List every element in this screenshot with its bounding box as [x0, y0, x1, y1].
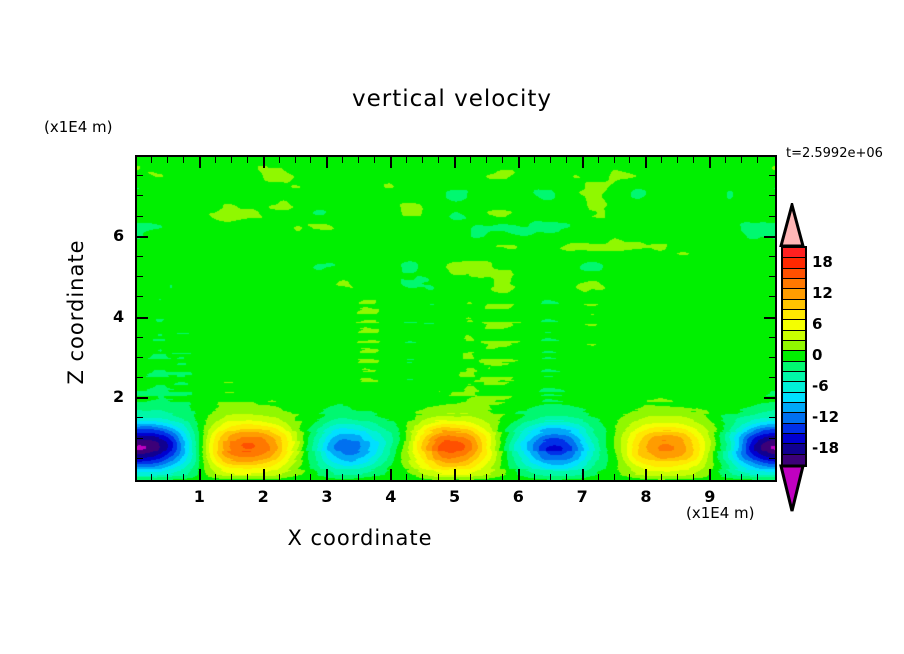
tick-mark	[263, 469, 265, 480]
tick-mark	[502, 157, 503, 163]
tick-mark	[629, 474, 630, 480]
tick-mark	[279, 157, 280, 163]
tick-mark	[769, 438, 775, 439]
tick-mark	[137, 417, 143, 418]
tick-mark	[137, 397, 148, 399]
tick-mark	[486, 157, 487, 163]
contour-plot-area	[135, 155, 777, 482]
tick-mark	[645, 157, 647, 168]
tick-mark	[757, 157, 758, 163]
tick-mark	[764, 236, 775, 238]
tick-mark	[769, 175, 775, 176]
tick-mark	[502, 474, 503, 480]
tick-mark	[247, 474, 248, 480]
tick-mark	[769, 458, 775, 459]
tick-mark	[769, 417, 775, 418]
colorbar-band	[783, 320, 805, 330]
tick-mark	[326, 469, 328, 480]
tick-mark	[167, 157, 168, 163]
tick-mark	[438, 474, 439, 480]
colorbar-band	[783, 289, 805, 299]
colorbar-tick-label: 12	[812, 284, 833, 302]
colorbar-tick-label: 18	[812, 253, 833, 271]
tick-mark	[741, 474, 742, 480]
tick-mark	[183, 474, 184, 480]
tick-mark	[764, 317, 775, 319]
tick-mark	[326, 157, 328, 168]
tick-mark	[358, 474, 359, 480]
tick-mark	[342, 474, 343, 480]
tick-mark	[422, 474, 423, 480]
colorbar-band	[783, 269, 805, 279]
tick-mark	[295, 474, 296, 480]
y-tick-label: 6	[113, 226, 124, 245]
tick-mark	[374, 474, 375, 480]
tick-mark	[390, 157, 392, 168]
tick-mark	[534, 157, 535, 163]
y-axis-unit-label: (x1E4 m)	[44, 118, 113, 136]
tick-mark	[769, 276, 775, 277]
tick-mark	[454, 157, 456, 168]
tick-mark	[769, 357, 775, 358]
colorbar-band	[783, 258, 805, 268]
tick-mark	[725, 474, 726, 480]
tick-mark	[137, 256, 143, 257]
tick-mark	[137, 296, 143, 297]
tick-mark	[598, 157, 599, 163]
colorbar-band	[783, 372, 805, 382]
tick-mark	[486, 474, 487, 480]
tick-mark	[137, 236, 148, 238]
tick-mark	[199, 469, 201, 480]
figure-canvas: vertical velocity t=2.5992e+06 (x1E4 m) …	[0, 0, 904, 654]
tick-mark	[167, 474, 168, 480]
tick-mark	[310, 157, 311, 163]
colorbar-tick-label: -18	[812, 439, 839, 457]
tick-mark	[709, 157, 711, 168]
colorbar-band	[783, 300, 805, 310]
tick-mark	[406, 157, 407, 163]
tick-mark	[215, 474, 216, 480]
tick-mark	[534, 474, 535, 480]
tick-mark	[757, 474, 758, 480]
colorbar-band	[783, 393, 805, 403]
x-tick-label: 8	[640, 487, 651, 506]
colorbar-under-arrow-icon	[779, 463, 805, 513]
colorbar-tick-label: -12	[812, 408, 839, 426]
tick-mark	[693, 157, 694, 163]
tick-mark	[769, 296, 775, 297]
colorbar-band	[783, 310, 805, 320]
tick-mark	[677, 157, 678, 163]
tick-mark	[614, 474, 615, 480]
tick-mark	[183, 157, 184, 163]
page-title: vertical velocity	[0, 86, 904, 112]
tick-mark	[137, 317, 148, 319]
colorbar-tick-label: 0	[812, 346, 822, 364]
tick-mark	[295, 157, 296, 163]
tick-mark	[769, 377, 775, 378]
tick-mark	[310, 474, 311, 480]
tick-mark	[725, 157, 726, 163]
tick-mark	[470, 474, 471, 480]
x-axis-title: X coordinate	[0, 526, 720, 550]
colorbar-band	[783, 434, 805, 444]
colorbar-tick-label: -6	[812, 377, 829, 395]
tick-mark	[582, 157, 584, 168]
tick-mark	[390, 469, 392, 480]
tick-mark	[438, 157, 439, 163]
x-tick-label: 3	[321, 487, 332, 506]
contour-field	[137, 157, 775, 480]
y-tick-label: 4	[113, 307, 124, 326]
tick-mark	[151, 474, 152, 480]
tick-mark	[709, 469, 711, 480]
tick-mark	[422, 157, 423, 163]
x-tick-label: 6	[513, 487, 524, 506]
tick-mark	[374, 157, 375, 163]
tick-mark	[764, 397, 775, 399]
tick-mark	[137, 195, 143, 196]
tick-mark	[741, 157, 742, 163]
y-tick-label: 2	[113, 387, 124, 406]
tick-mark	[645, 469, 647, 480]
tick-mark	[661, 474, 662, 480]
tick-mark	[406, 474, 407, 480]
tick-mark	[518, 157, 520, 168]
tick-mark	[358, 157, 359, 163]
tick-mark	[231, 157, 232, 163]
tick-mark	[279, 474, 280, 480]
y-axis-title: Z coordinate	[64, 212, 88, 412]
tick-mark	[629, 157, 630, 163]
tick-mark	[550, 474, 551, 480]
x-tick-label: 4	[385, 487, 396, 506]
tick-mark	[247, 157, 248, 163]
x-tick-label: 1	[194, 487, 205, 506]
tick-mark	[598, 474, 599, 480]
tick-mark	[137, 276, 143, 277]
tick-mark	[151, 157, 152, 163]
colorbar-band	[783, 341, 805, 351]
colorbar-band	[783, 248, 805, 258]
tick-mark	[454, 469, 456, 480]
tick-mark	[137, 438, 143, 439]
x-tick-label: 9	[704, 487, 715, 506]
colorbar-band	[783, 331, 805, 341]
colorbar-band	[783, 279, 805, 289]
tick-mark	[215, 157, 216, 163]
tick-mark	[342, 157, 343, 163]
colorbar-tick-label: 6	[812, 315, 822, 333]
x-tick-label: 2	[258, 487, 269, 506]
tick-mark	[614, 157, 615, 163]
colorbar-band	[783, 444, 805, 454]
tick-mark	[769, 195, 775, 196]
x-tick-label: 7	[577, 487, 588, 506]
tick-mark	[137, 175, 143, 176]
tick-mark	[199, 157, 201, 168]
colorbar-band	[783, 351, 805, 361]
x-axis-unit-label: (x1E4 m)	[686, 504, 755, 522]
tick-mark	[566, 474, 567, 480]
tick-mark	[582, 469, 584, 480]
colorbar-band	[783, 424, 805, 434]
colorbar	[781, 246, 807, 467]
colorbar-band	[783, 403, 805, 413]
tick-mark	[566, 157, 567, 163]
tick-mark	[661, 157, 662, 163]
colorbar-band	[783, 382, 805, 392]
tick-mark	[137, 458, 143, 459]
tick-mark	[677, 474, 678, 480]
time-annotation: t=2.5992e+06	[786, 146, 883, 161]
colorbar-over-arrow-icon	[779, 203, 805, 247]
x-tick-label: 5	[449, 487, 460, 506]
tick-mark	[769, 256, 775, 257]
tick-mark	[137, 377, 143, 378]
tick-mark	[231, 474, 232, 480]
tick-mark	[550, 157, 551, 163]
tick-mark	[518, 469, 520, 480]
tick-mark	[470, 157, 471, 163]
colorbar-band	[783, 362, 805, 372]
tick-mark	[263, 157, 265, 168]
colorbar-band	[783, 413, 805, 423]
tick-mark	[769, 216, 775, 217]
tick-mark	[137, 216, 143, 217]
tick-mark	[693, 474, 694, 480]
tick-mark	[137, 337, 143, 338]
tick-mark	[769, 337, 775, 338]
tick-mark	[137, 357, 143, 358]
